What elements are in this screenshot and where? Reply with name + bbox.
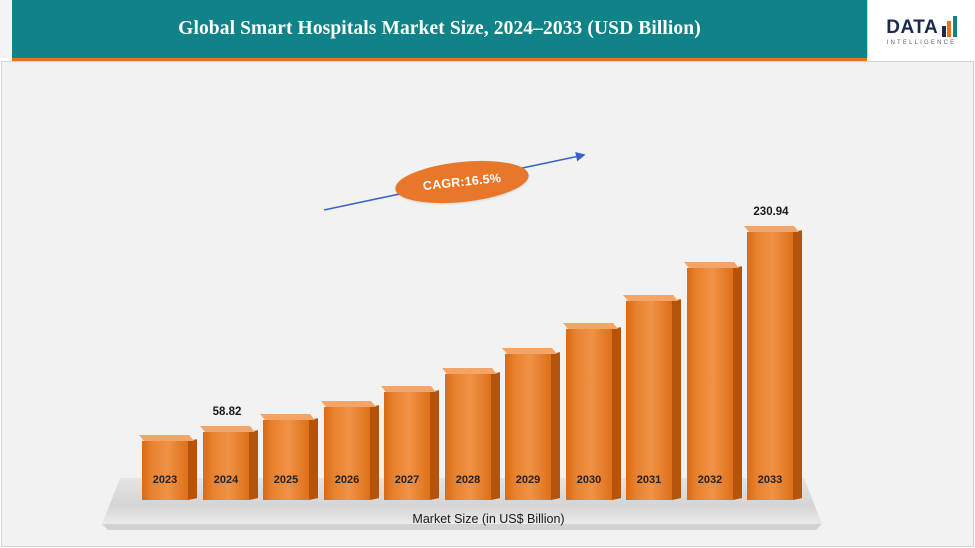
x-tick-label: 2033 bbox=[741, 474, 799, 486]
chart-page: Global Smart Hospitals Market Size, 2024… bbox=[0, 0, 975, 548]
bar-top-face bbox=[321, 401, 376, 407]
x-tick-label: 2027 bbox=[378, 474, 436, 486]
bar-side-face bbox=[733, 266, 742, 500]
title-band: Global Smart Hospitals Market Size, 2024… bbox=[12, 0, 867, 58]
bar-column: 2028 bbox=[445, 62, 491, 547]
bar-side-face bbox=[249, 430, 258, 500]
bar-value-label: 230.94 bbox=[737, 206, 805, 218]
bar-top-face bbox=[381, 386, 436, 392]
bar-top-face bbox=[502, 348, 557, 354]
x-tick-label: 2026 bbox=[318, 474, 376, 486]
bar-front-face bbox=[687, 268, 733, 500]
bar-column: 2023 bbox=[142, 62, 188, 547]
bar-value-label: 58.82 bbox=[193, 406, 261, 418]
bar-column: 2027 bbox=[384, 62, 430, 547]
bar-front-face bbox=[324, 407, 370, 500]
bar-side-face bbox=[188, 439, 197, 500]
bar-top-face bbox=[744, 226, 799, 232]
x-tick-label: 2024 bbox=[197, 474, 255, 486]
bar-column: 2032 bbox=[687, 62, 733, 547]
logo-tagline: INTELLIGENCE bbox=[887, 40, 957, 46]
bar-top-face bbox=[260, 414, 315, 420]
x-tick-label: 2025 bbox=[257, 474, 315, 486]
bar-column: 202458.82 bbox=[203, 62, 249, 547]
bar-column: 2031 bbox=[626, 62, 672, 547]
logo-bars-icon bbox=[940, 15, 957, 37]
bar-column: 2025 bbox=[263, 62, 309, 547]
bar-front-face bbox=[626, 301, 672, 500]
x-axis-caption: Market Size (in US$ Billion) bbox=[2, 512, 974, 526]
x-tick-label: 2031 bbox=[620, 474, 678, 486]
bar-side-face bbox=[309, 418, 318, 500]
x-tick-label: 2023 bbox=[136, 474, 194, 486]
bar-front-face bbox=[747, 232, 793, 500]
bar-column: 2029 bbox=[505, 62, 551, 547]
bar-side-face bbox=[672, 299, 681, 500]
x-tick-label: 2029 bbox=[499, 474, 557, 486]
bar-column: 2033230.94 bbox=[747, 62, 793, 547]
logo-wordmark: DATA bbox=[886, 18, 938, 37]
x-tick-label: 2032 bbox=[681, 474, 739, 486]
bar-top-face bbox=[623, 295, 678, 301]
bar-front-face bbox=[203, 432, 249, 500]
bar-side-face bbox=[793, 230, 802, 500]
cagr-label: CAGR:16.5% bbox=[422, 171, 501, 193]
bar-top-face bbox=[684, 262, 739, 268]
bar-series: 2023202458.82202520262027202820292030203… bbox=[2, 62, 974, 547]
bar-top-face bbox=[139, 435, 194, 441]
x-tick-label: 2030 bbox=[560, 474, 618, 486]
logo-row: DATA bbox=[886, 13, 956, 37]
bar-column: 2030 bbox=[566, 62, 612, 547]
bar-top-face bbox=[442, 368, 497, 374]
chart-header: Global Smart Hospitals Market Size, 2024… bbox=[0, 0, 975, 58]
bar-column: 2026 bbox=[324, 62, 370, 547]
x-tick-label: 2028 bbox=[439, 474, 497, 486]
bar-front-face bbox=[142, 441, 188, 500]
bar-front-face bbox=[263, 420, 309, 500]
bar-top-face bbox=[200, 426, 255, 432]
page-title: Global Smart Hospitals Market Size, 2024… bbox=[178, 18, 701, 40]
chart-plot-area: 2023202458.82202520262027202820292030203… bbox=[1, 61, 974, 547]
bar-top-face bbox=[563, 323, 618, 329]
brand-logo: DATA INTELLIGENCE bbox=[867, 0, 975, 58]
